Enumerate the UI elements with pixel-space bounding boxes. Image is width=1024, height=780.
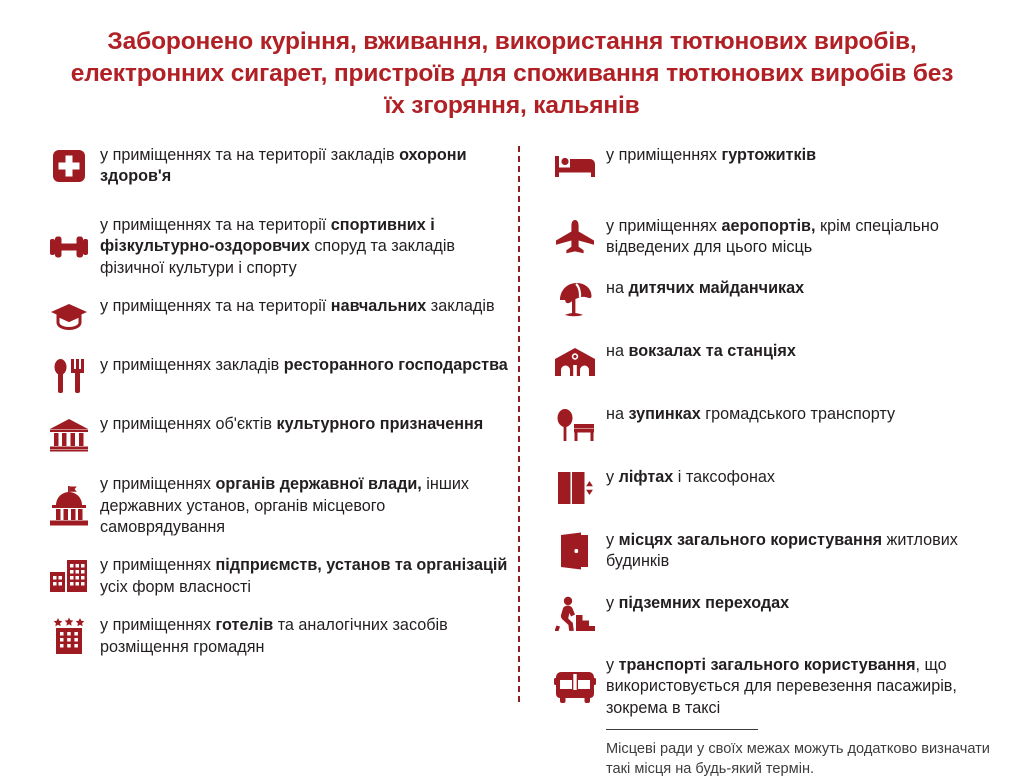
office-buildings-icon: [46, 554, 92, 598]
list-item: на зупинках громадського транспорту: [552, 403, 1014, 447]
list-item: у приміщеннях закладів ресторанного госп…: [46, 354, 508, 398]
text-bold: органів державної влади,: [216, 475, 422, 493]
text-pre: у приміщеннях та на території: [100, 297, 331, 315]
text-pre: у приміщеннях: [100, 475, 216, 493]
text-pre: у приміщеннях закладів: [100, 356, 284, 374]
list-item: у приміщеннях готелів та аналогічних зас…: [46, 614, 508, 658]
list-item-text: у місцях загального користування житлови…: [606, 529, 1014, 573]
text-bold: ресторанного господарства: [284, 356, 508, 374]
list-item: у приміщеннях органів державної влади, і…: [46, 473, 508, 538]
airplane-icon: [552, 215, 598, 259]
footnote-text: Місцеві ради у своїх межах можуть додатк…: [606, 740, 996, 780]
right-column: у приміщеннях гуртожитків у приміщеннях …: [552, 144, 1014, 780]
list-item: на вокзалах та станціях: [552, 340, 1014, 384]
text-post: і таксофонах: [673, 468, 775, 486]
text-bold: гуртожитків: [722, 146, 817, 164]
list-item: у приміщеннях та на території спортивних…: [46, 214, 508, 279]
capitol-icon: [46, 484, 92, 528]
open-door-icon: [552, 529, 598, 573]
list-item: у приміщеннях та на території закладів о…: [46, 144, 508, 188]
text-bold: підземних переходах: [619, 594, 790, 612]
list-item-text: на вокзалах та станціях: [606, 340, 1014, 362]
text-pre: на: [606, 279, 628, 297]
list-item-text: на дитячих майданчиках: [606, 277, 1014, 299]
list-item-text: у приміщеннях та на території закладів о…: [100, 144, 508, 188]
text-bold: підприємств, установ та організацій: [216, 556, 508, 574]
text-bold: транспорті загального користування: [619, 656, 916, 674]
text-pre: у: [606, 594, 619, 612]
list-item-text: у приміщеннях готелів та аналогічних зас…: [100, 614, 508, 658]
infographic-page: Заборонено куріння, вживання, використан…: [0, 0, 1024, 727]
list-item: у приміщеннях підприємств, установ та ор…: [46, 554, 508, 598]
dumbbell-icon: [46, 225, 92, 269]
hotel-icon: [46, 614, 92, 658]
elevator-icon: [552, 466, 598, 510]
list-item: у місцях загального користування житлови…: [552, 529, 1014, 573]
list-item-text: у транспорті загального користування, що…: [606, 654, 1014, 719]
list-item: у підземних переходах: [552, 592, 1014, 636]
text-post: закладів: [426, 297, 494, 315]
train-station-icon: [552, 340, 598, 384]
text-pre: у приміщеннях та на території: [100, 216, 331, 234]
left-column: у приміщеннях та на території закладів о…: [46, 144, 508, 658]
list-item: у приміщеннях аеропортів, крім спеціальн…: [552, 215, 1014, 259]
text-bold: навчальних: [331, 297, 426, 315]
list-item: у приміщеннях об'єктів культурного призн…: [46, 413, 508, 457]
list-item: у транспорті загального користування, що…: [552, 654, 1014, 719]
text-pre: у: [606, 468, 619, 486]
text-bold: готелів: [216, 616, 274, 634]
columns-container: у приміщеннях та на території закладів о…: [0, 144, 1024, 727]
list-item-text: у приміщеннях підприємств, установ та ор…: [100, 554, 508, 598]
page-title: Заборонено куріння, вживання, використан…: [58, 26, 966, 122]
list-item: у приміщеннях та на території навчальних…: [46, 295, 508, 339]
list-item-text: у приміщеннях та на території спортивних…: [100, 214, 508, 279]
text-pre: у: [606, 656, 619, 674]
bus-stop-bench-icon: [552, 403, 598, 447]
list-item: у ліфтах і таксофонах: [552, 466, 1014, 510]
bed-icon: [552, 144, 598, 188]
bus-icon: [552, 665, 598, 709]
text-pre: у приміщеннях: [100, 556, 216, 574]
list-item-text: у приміщеннях гуртожитків: [606, 144, 1014, 166]
text-pre: у приміщеннях: [606, 217, 722, 235]
text-post: усіх форм власності: [100, 578, 251, 596]
list-item-text: у приміщеннях та на території навчальних…: [100, 295, 508, 317]
cutlery-icon: [46, 354, 92, 398]
list-item-text: у приміщеннях закладів ресторанного госп…: [100, 354, 508, 376]
text-bold: зупинках: [628, 405, 700, 423]
list-item-text: у приміщеннях аеропортів, крім спеціальн…: [606, 215, 1014, 259]
list-item-text: у приміщеннях органів державної влади, і…: [100, 473, 508, 538]
footnote: Місцеві ради у своїх межах можуть додатк…: [606, 729, 996, 780]
footnote-divider: [606, 729, 758, 730]
text-pre: на: [606, 405, 628, 423]
list-item-text: у приміщеннях об'єктів культурного призн…: [100, 413, 508, 435]
beach-umbrella-icon: [552, 277, 598, 321]
list-item-text: на зупинках громадського транспорту: [606, 403, 1014, 425]
text-bold: вокзалах та станціях: [628, 342, 795, 360]
text-bold: ліфтах: [619, 468, 674, 486]
text-bold: культурного призначення: [277, 415, 484, 433]
stairs-pedestrian-icon: [552, 592, 598, 636]
text-pre: у приміщеннях та на території закладів: [100, 146, 399, 164]
graduation-cap-icon: [46, 295, 92, 339]
list-item-text: у ліфтах і таксофонах: [606, 466, 1014, 488]
medical-cross-icon: [46, 144, 92, 188]
text-bold: аеропортів,: [722, 217, 816, 235]
text-pre: у приміщеннях об'єктів: [100, 415, 277, 433]
text-bold: місцях загального користування: [619, 531, 882, 549]
list-item-text: у підземних переходах: [606, 592, 1014, 614]
text-bold: дитячих майданчиках: [628, 279, 804, 297]
list-item: у приміщеннях гуртожитків: [552, 144, 1014, 188]
text-pre: у: [606, 531, 619, 549]
list-item: на дитячих майданчиках: [552, 277, 1014, 321]
museum-icon: [46, 413, 92, 457]
text-pre: у приміщеннях: [606, 146, 722, 164]
text-pre: на: [606, 342, 628, 360]
text-pre: у приміщеннях: [100, 616, 216, 634]
text-post: громадського транспорту: [701, 405, 895, 423]
